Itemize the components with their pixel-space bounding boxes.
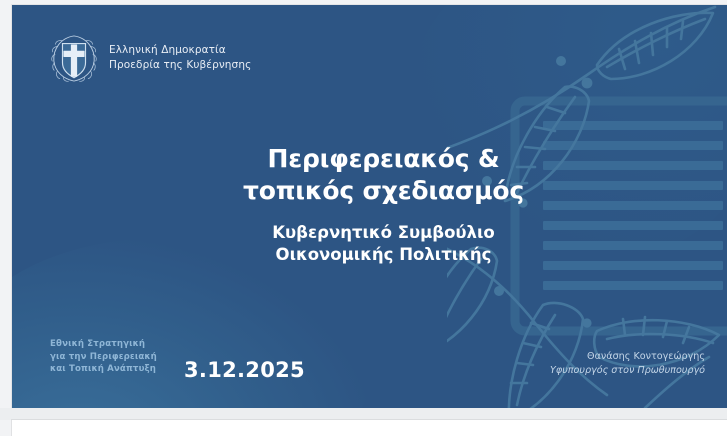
slide-title-slide[interactable]: Ελληνική Δημοκρατία Προεδρία της Κυβέρνη… (12, 5, 727, 408)
speaker-credit: Θανάσης Κοντογεώργης Υφυπουργός στον Πρω… (550, 350, 705, 378)
strategy-logo-text: Εθνική Στρατηγική για την Περιφερειακή κ… (50, 338, 157, 376)
title-block: Περιφερειακός & τοπικός σχεδιασμός Κυβερ… (12, 143, 727, 266)
slide-main-title: Περιφερειακός & τοπικός σχεδιασμός (40, 143, 727, 207)
org-line-2: Προεδρία της Κυβέρνησης (109, 58, 251, 73)
org-line-1: Ελληνική Δημοκρατία (109, 43, 251, 58)
slide-date: 3.12.2025 (184, 358, 305, 382)
government-logo: Ελληνική Δημοκρατία Προεδρία της Κυβέρνη… (50, 33, 251, 83)
slide-deck-viewer[interactable]: Ελληνική Δημοκρατία Προεδρία της Κυβέρνη… (0, 0, 727, 436)
greek-coat-of-arms-icon (50, 33, 98, 83)
slide-next-preview[interactable] (12, 420, 727, 436)
speaker-name: Θανάσης Κοντογεώργης (550, 350, 705, 364)
speaker-role: Υφυπουργός στον Πρωθυπουργό (550, 364, 705, 378)
government-logo-text: Ελληνική Δημοκρατία Προεδρία της Κυβέρνη… (109, 43, 251, 73)
slide-subtitle: Κυβερνητικό Συμβούλιο Οικονομικής Πολιτι… (40, 222, 727, 266)
slide-separator (0, 408, 727, 420)
